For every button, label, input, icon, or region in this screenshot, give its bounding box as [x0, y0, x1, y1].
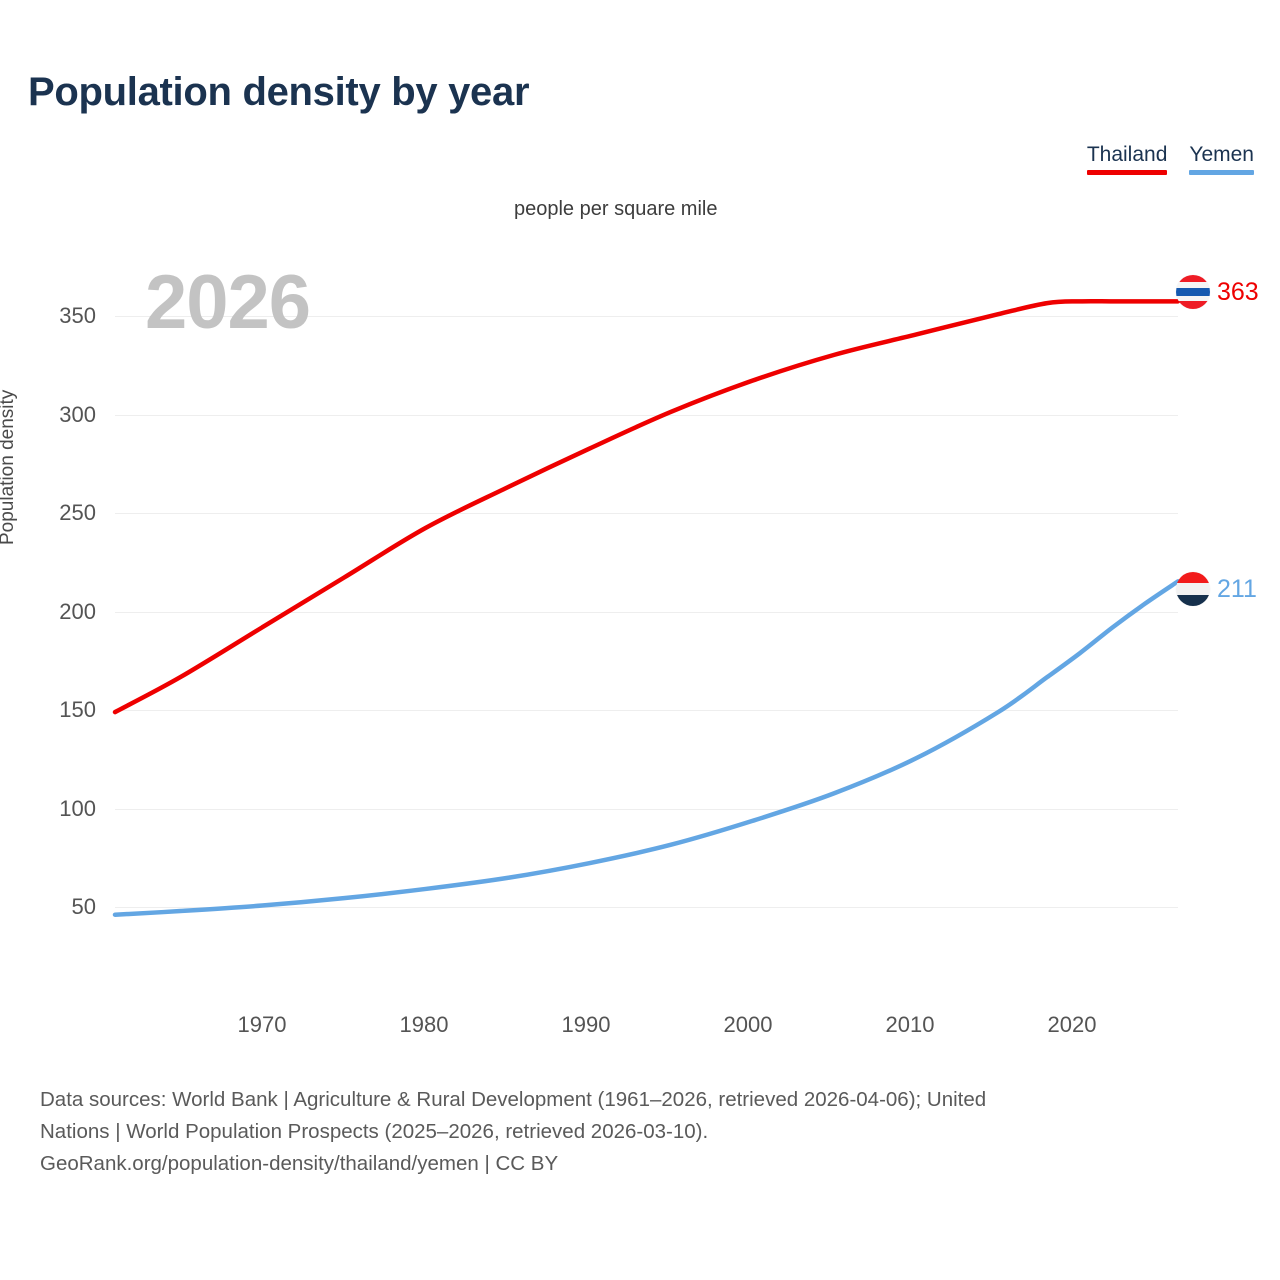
page-title: Population density by year [28, 70, 529, 115]
x-tick-2020: 2020 [1048, 1012, 1097, 1038]
legend-item-yemen[interactable]: Yemen [1189, 144, 1254, 175]
thailand-flag-icon [1176, 275, 1210, 309]
legend-item-thailand[interactable]: Thailand [1087, 144, 1168, 175]
footer-sources: Data sources: World Bank | Agriculture &… [40, 1084, 1255, 1179]
x-tick-2010: 2010 [886, 1012, 935, 1038]
y-tick-200: 200 [0, 599, 96, 625]
x-tick-1970: 1970 [238, 1012, 287, 1038]
plot-area: 350 300 250 200 150 100 50 2026 [115, 270, 1178, 970]
chart-subtitle: people per square mile [514, 198, 717, 221]
x-axis-ticks: 1970 1980 1990 2000 2010 2020 [115, 1012, 1178, 1052]
legend-label-yemen: Yemen [1189, 144, 1254, 166]
legend-label-thailand: Thailand [1087, 144, 1168, 166]
y-tick-150: 150 [0, 697, 96, 723]
x-tick-1980: 1980 [400, 1012, 449, 1038]
footer-line-2: Nations | World Population Prospects (20… [40, 1116, 1255, 1148]
series-line-yemen [115, 581, 1178, 914]
legend: Thailand Yemen [1087, 144, 1254, 175]
chart-page: Population density by year Thailand Yeme… [0, 0, 1280, 1280]
y-tick-300: 300 [0, 402, 96, 428]
y-tick-350: 350 [0, 303, 96, 329]
footer-line-3[interactable]: GeoRank.org/population-density/thailand/… [40, 1148, 1255, 1180]
y-tick-250: 250 [0, 500, 96, 526]
series-lines [115, 270, 1178, 970]
endpoint-value-yemen: 211 [1217, 577, 1257, 602]
footer-line-1: Data sources: World Bank | Agriculture &… [40, 1084, 1255, 1116]
legend-swatch-thailand [1087, 170, 1168, 175]
x-tick-2000: 2000 [724, 1012, 773, 1038]
y-tick-50: 50 [0, 894, 96, 920]
x-tick-1990: 1990 [562, 1012, 611, 1038]
endpoint-value-thailand: 363 [1217, 280, 1259, 305]
legend-swatch-yemen [1189, 170, 1254, 175]
yemen-flag-icon [1176, 572, 1210, 606]
endpoint-yemen: 211 [1176, 572, 1257, 606]
endpoint-thailand: 363 [1176, 275, 1259, 309]
series-line-thailand [115, 301, 1178, 712]
y-tick-100: 100 [0, 796, 96, 822]
